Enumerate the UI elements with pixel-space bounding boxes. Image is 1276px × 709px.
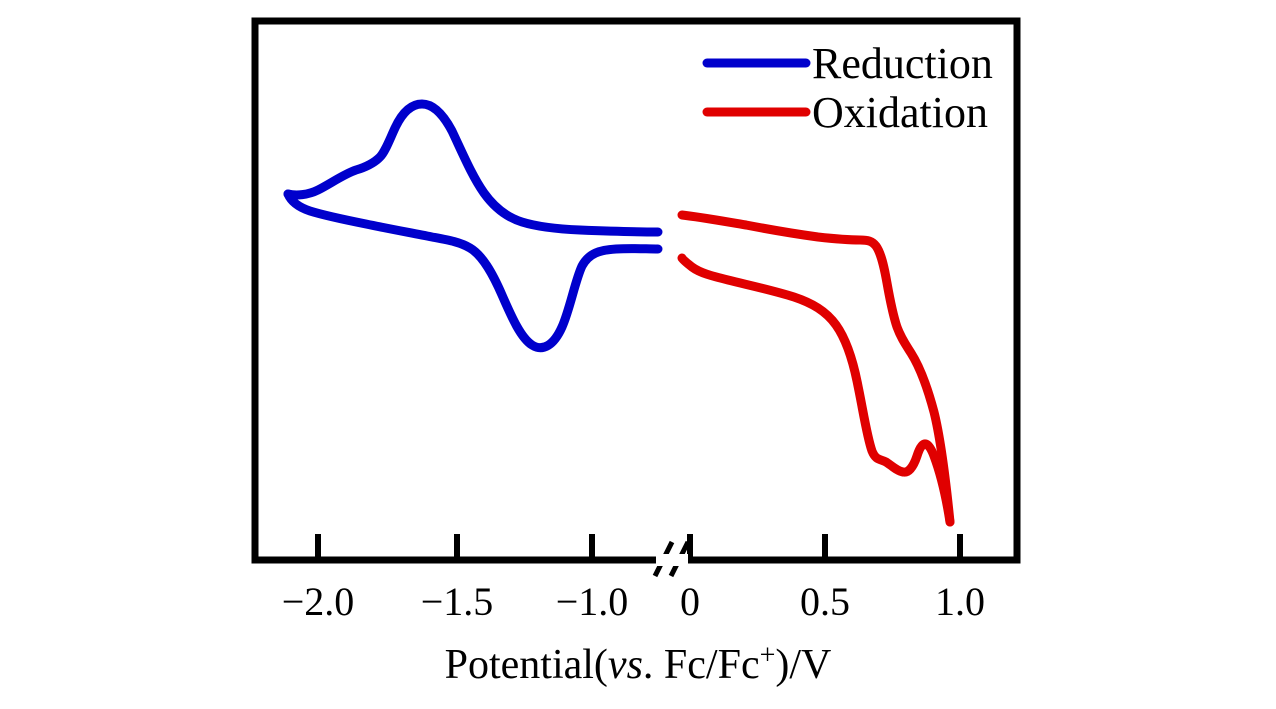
x-axis-title: Potential(vs. Fc/Fc+)/V — [445, 640, 832, 688]
xtick-label-4: 0.5 — [800, 579, 850, 624]
axis-title-mid: . Fc/Fc — [643, 642, 760, 688]
xtick-label-5: 1.0 — [935, 579, 985, 624]
cv-plot: −2.0 −1.5 −1.0 0 0.5 1.0 Potential(vs. F… — [0, 0, 1276, 709]
axis-title-suffix: )/V — [775, 642, 831, 688]
xtick-label-0: −2.0 — [282, 579, 355, 624]
legend-label-reduction: Reduction — [812, 39, 993, 88]
xtick-label-3: 0 — [680, 579, 700, 624]
axis-title-prefix: Potential( — [445, 642, 608, 688]
xtick-label-2: −1.0 — [556, 579, 629, 624]
axis-title-italic: vs — [608, 642, 643, 688]
xtick-label-1: −1.5 — [421, 579, 494, 624]
axis-title-superscript: + — [760, 640, 776, 671]
axis-break-mask — [656, 554, 688, 566]
cv-figure: −2.0 −1.5 −1.0 0 0.5 1.0 Potential(vs. F… — [0, 0, 1276, 709]
legend-label-oxidation: Oxidation — [812, 88, 988, 137]
